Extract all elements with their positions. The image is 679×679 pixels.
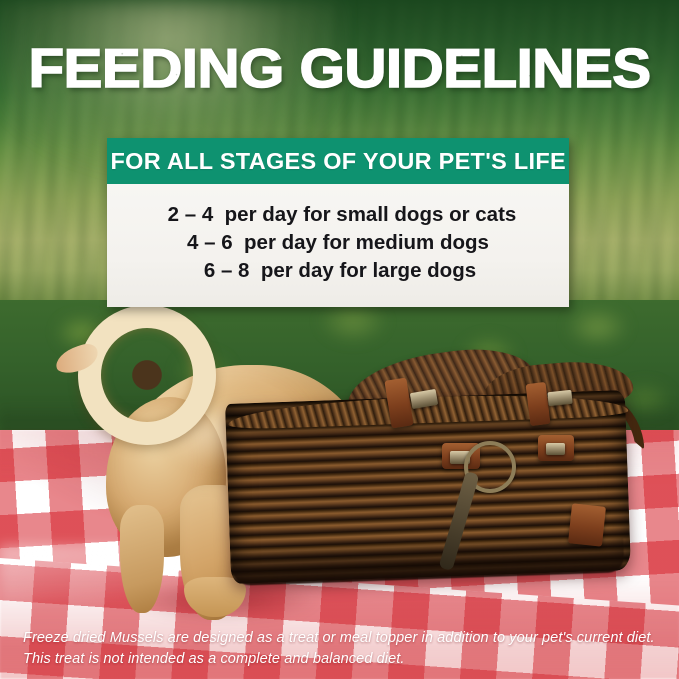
page-title: FEEDING GUIDELINES: [0, 41, 679, 96]
feeding-guidelines-panel: FOR ALL STAGES OF YOUR PET'S LIFE 2 – 4 …: [107, 138, 569, 307]
wicker-picnic-basket: [228, 355, 628, 590]
dog-curled-tail: [78, 305, 216, 445]
basket-buckle: [547, 390, 572, 406]
feeding-line-medium-dogs: 4 – 6 per day for medium dogs: [107, 229, 569, 257]
dog-rear-leg: [120, 505, 164, 613]
panel-body: 2 – 4 per day for small dogs or cats 4 –…: [107, 184, 569, 307]
feeding-guidelines-poster: FEEDING GUIDELINES FOR ALL STAGES OF YOU…: [0, 0, 679, 679]
disclaimer-line-1: Freeze dried Mussels are designed as a t…: [23, 628, 663, 649]
basket-leather-strap: [568, 503, 606, 546]
disclaimer: Freeze dried Mussels are designed as a t…: [23, 628, 663, 670]
basket-buckle: [546, 443, 565, 455]
disclaimer-line-2: This treat is not intended as a complete…: [23, 649, 663, 670]
feeding-line-small-dogs: 2 – 4 per day for small dogs or cats: [107, 201, 569, 229]
panel-banner-title: FOR ALL STAGES OF YOUR PET'S LIFE: [110, 148, 565, 175]
feeding-line-large-dogs: 6 – 8 per day for large dogs: [107, 257, 569, 285]
panel-banner: FOR ALL STAGES OF YOUR PET'S LIFE: [107, 138, 569, 184]
